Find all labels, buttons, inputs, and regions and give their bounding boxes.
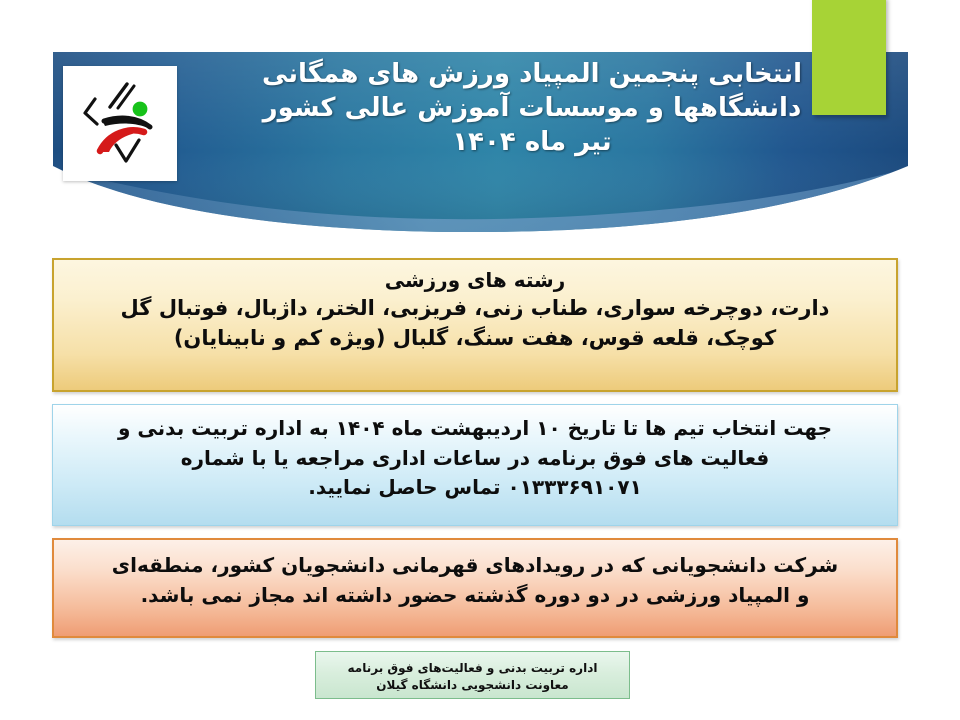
registration-info-box: جهت انتخاب تیم ها تا تاریخ ۱۰ اردیبهشت م… bbox=[52, 404, 898, 526]
announcement-poster: انتخابی پنجمین المپیاد ورزش های همگانی د… bbox=[0, 0, 960, 720]
poster-title-line-2: دانشگاهها و موسسات آموزش عالی کشور bbox=[182, 91, 882, 125]
info-box-line-3: ۰۱۳۳۳۶۹۱۰۷۱ تماس حاصل نمایید. bbox=[67, 473, 883, 503]
sports-box-heading: رشته های ورزشی bbox=[68, 267, 882, 293]
sports-box-line-1: دارت، دوچرخه سواری، طناب زنی، فریزبی، ال… bbox=[68, 294, 882, 324]
poster-title-line-1: انتخابی پنجمین المپیاد ورزش های همگانی bbox=[182, 57, 882, 91]
footer-issuer-box: اداره تربیت بدنی و فعالیت‌های فوق برنامه… bbox=[315, 651, 630, 699]
restriction-box-line-1: شرکت دانشجویانی که در رویدادهای قهرمانی … bbox=[68, 550, 882, 580]
info-box-line-1: جهت انتخاب تیم ها تا تاریخ ۱۰ اردیبهشت م… bbox=[67, 414, 883, 444]
logo-mark bbox=[63, 66, 177, 181]
eligibility-restriction-box: شرکت دانشجویانی که در رویدادهای قهرمانی … bbox=[52, 538, 898, 638]
university-sports-logo bbox=[63, 66, 177, 181]
sports-disciplines-box: رشته های ورزشی دارت، دوچرخه سواری، طناب … bbox=[52, 258, 898, 392]
poster-title: انتخابی پنجمین المپیاد ورزش های همگانی د… bbox=[182, 57, 882, 159]
poster-title-line-3: تیر ماه ۱۴۰۴ bbox=[182, 125, 882, 159]
info-box-line-2: فعالیت های فوق برنامه در ساعات اداری مرا… bbox=[67, 444, 883, 474]
footer-line-2: معاونت دانشجویی دانشگاه گیلان bbox=[316, 677, 629, 694]
restriction-box-line-2: و المپیاد ورزشی در دو دوره گذشته حضور دا… bbox=[68, 580, 882, 610]
sports-box-body: دارت، دوچرخه سواری، طناب زنی، فریزبی، ال… bbox=[68, 294, 882, 354]
header-banner: انتخابی پنجمین المپیاد ورزش های همگانی د… bbox=[0, 0, 960, 232]
sports-box-line-2: کوچک، قلعه قوس، هفت سنگ، گلبال (ویژه کم … bbox=[68, 324, 882, 354]
footer-line-1: اداره تربیت بدنی و فعالیت‌های فوق برنامه bbox=[316, 660, 629, 677]
